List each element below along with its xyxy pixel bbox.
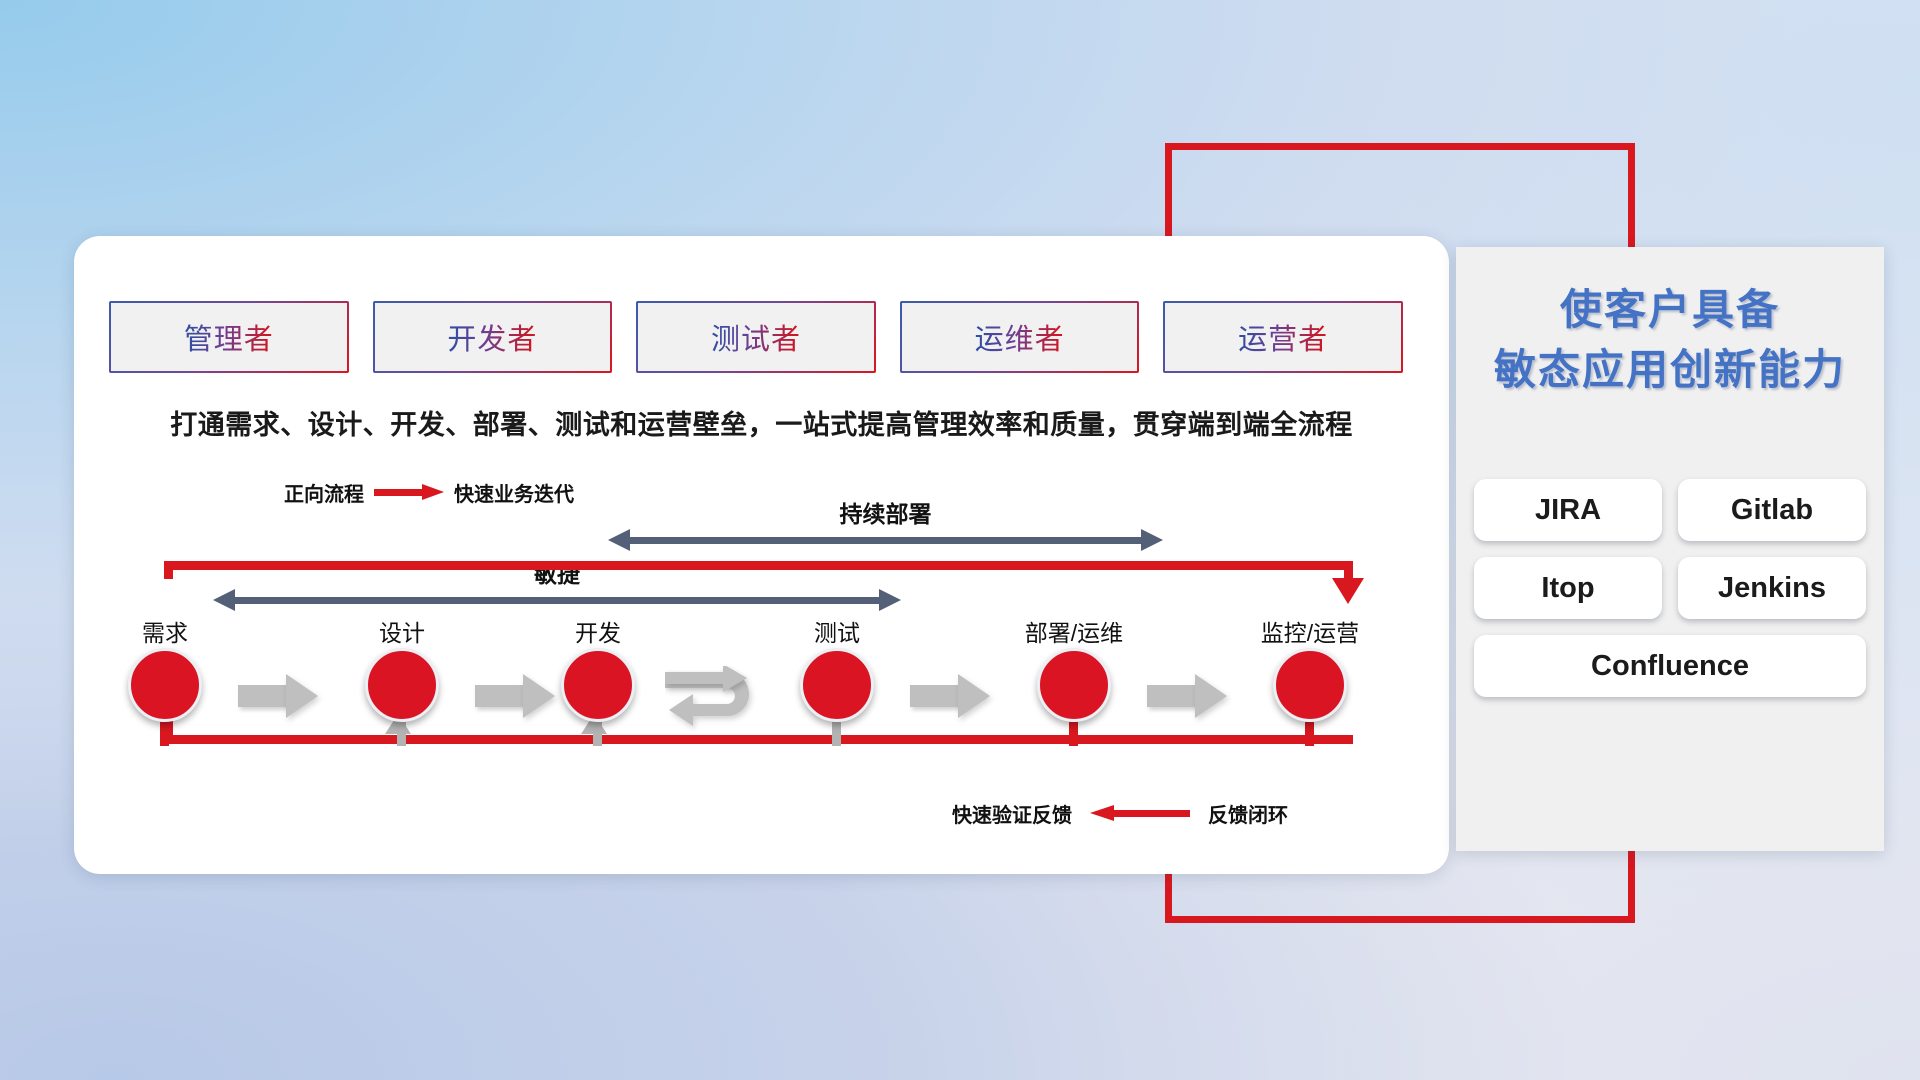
role-box-ops[interactable]: 运维者 [902,303,1138,371]
loop-left-corner [164,561,173,579]
stage-label: 监控/运营 [1243,614,1377,648]
tool-card-jenkins[interactable]: Jenkins [1678,557,1866,619]
tool-card-itop[interactable]: Itop [1474,557,1662,619]
stage-stem [1069,722,1078,746]
loop-arrow-down-icon [1332,578,1364,604]
legend-feedback-right-label: 反馈闭环 [1208,799,1288,828]
role-box-row: 管理者 开发者 测试者 运维者 运营者 [111,303,1401,371]
tool-card-gitlab[interactable]: Gitlab [1678,479,1866,541]
panel-title-line1: 使客户具备 [1456,280,1884,340]
arrow-head-right-icon [1141,529,1163,551]
legend-feedback-loop: 快速验证反馈 反馈闭环 [952,799,1288,828]
role-box-tester[interactable]: 测试者 [638,303,874,371]
arrow-shaft [628,537,1143,544]
stage-stem [1305,722,1314,746]
value-proposition-panel: 使客户具备 敏态应用创新能力 JIRA Gitlab Itop Jenkins … [1456,247,1884,851]
agile-span: 敏捷 [213,589,901,611]
arrow-head-right-icon [879,589,901,611]
arrow-head-left-icon [213,589,235,611]
stage-label: 设计 [335,614,469,648]
stage-label: 开发 [531,614,665,648]
role-box-operations[interactable]: 运营者 [1165,303,1401,371]
stage-circle [1037,648,1111,722]
flow-arrow-icon [910,674,990,718]
panel-title-line2: 敏态应用创新能力 [1456,340,1884,400]
flow-arrow-icon [238,674,318,718]
loop-top-line [164,561,1353,570]
arrow-head-left-icon [608,529,630,551]
stage-label: 测试 [770,614,904,648]
stage-circle [1273,648,1347,722]
tool-list: JIRA Gitlab Itop Jenkins Confluence [1474,479,1866,697]
panel-title: 使客户具备 敏态应用创新能力 [1456,280,1884,399]
role-label: 运维者 [975,316,1065,358]
flow-arrow-icon [475,674,555,718]
arrow-shaft [233,597,881,604]
pipeline-row: 需求 设计 开发 测试 部署/运维 [120,614,1430,734]
stage-label: 部署/运维 [1007,614,1141,648]
role-label: 运营者 [1238,316,1328,358]
role-label: 管理者 [184,316,274,358]
role-box-developer[interactable]: 开发者 [375,303,611,371]
stage-stem [160,722,169,746]
role-label: 测试者 [711,316,801,358]
continuous-deployment-span: 持续部署 [608,529,1163,551]
loop-bottom-line [164,735,1353,744]
stage-circle [561,648,635,722]
legend-forward-left-label: 正向流程 [284,478,364,507]
continuous-deployment-label: 持续部署 [608,495,1163,529]
tool-card-confluence[interactable]: Confluence [1474,635,1866,697]
role-label: 开发者 [447,316,537,358]
legend-forward-flow: 正向流程 快速业务迭代 [284,478,574,507]
legend-feedback-left-label: 快速验证反馈 [952,799,1072,828]
red-arrow-left-icon [1090,807,1190,820]
stage-circle [128,648,202,722]
iteration-loop-arrow-icon [665,666,785,736]
stage-stem [832,722,841,746]
stage-circle [365,648,439,722]
red-arrow-right-icon [374,486,444,499]
stage-label: 需求 [98,614,232,648]
tool-card-jira[interactable]: JIRA [1474,479,1662,541]
description-text: 打通需求、设计、开发、部署、测试和运营壁垒，一站式提高管理效率和质量，贯穿端到端… [74,403,1449,442]
stage-circle [800,648,874,722]
role-box-manager[interactable]: 管理者 [111,303,347,371]
legend-forward-right-label: 快速业务迭代 [454,478,574,507]
flow-arrow-icon [1147,674,1227,718]
